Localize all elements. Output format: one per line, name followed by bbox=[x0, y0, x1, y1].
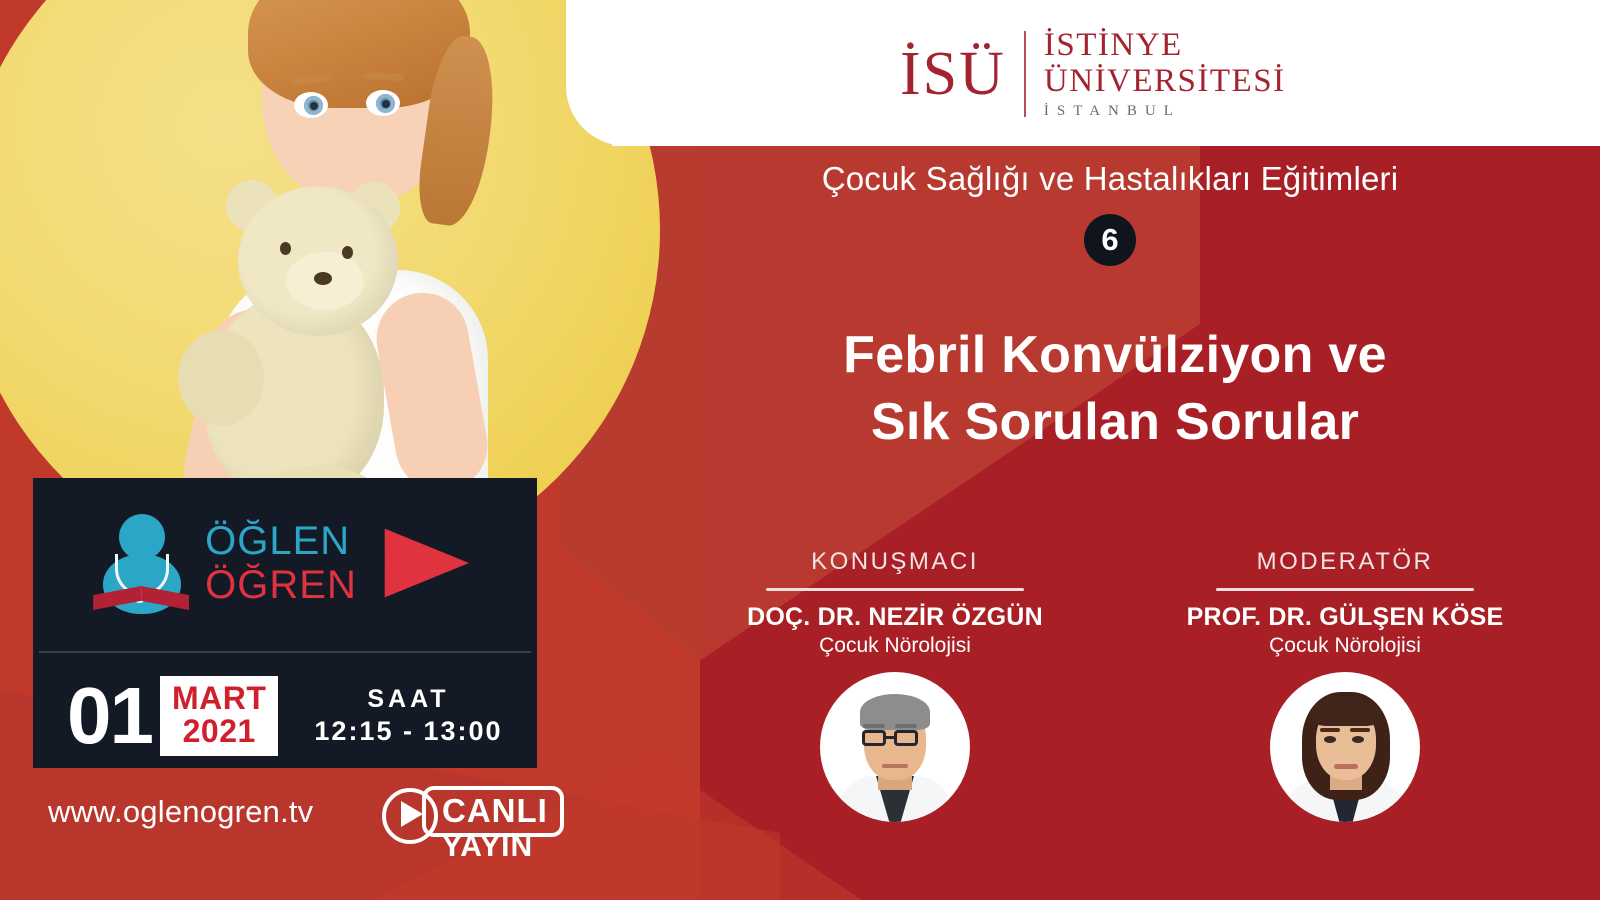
book-icon bbox=[93, 586, 189, 612]
logo-divider bbox=[1024, 31, 1026, 117]
website-url[interactable]: www.oglenogren.tv bbox=[48, 794, 313, 830]
talk-title: Febril Konvülziyon ve Sık Sorulan Sorula… bbox=[700, 322, 1530, 455]
speaker-avatar bbox=[820, 672, 970, 822]
speaker-divider bbox=[766, 588, 1024, 591]
moderator-mouth bbox=[1334, 764, 1358, 769]
people-section: KONUŞMACI DOÇ. DR. NEZİR ÖZGÜN Çocuk Nör… bbox=[700, 548, 1540, 822]
university-monogram: İSÜ bbox=[900, 43, 1006, 105]
talk-title-line2: Sık Sorulan Sorular bbox=[700, 389, 1530, 456]
time-label: SAAT bbox=[314, 684, 502, 715]
moderator-name: PROF. DR. GÜLŞEN KÖSE bbox=[1150, 603, 1540, 632]
event-day: 01 bbox=[67, 678, 152, 753]
moderator-department: Çocuk Nörolojisi bbox=[1150, 634, 1540, 658]
moderator-avatar bbox=[1270, 672, 1420, 822]
panel-divider bbox=[39, 651, 531, 653]
moderator-block: MODERATÖR PROF. DR. GÜLŞEN KÖSE Çocuk Nö… bbox=[1150, 548, 1540, 822]
moderator-eye-left bbox=[1324, 736, 1336, 743]
teddy-eye-right bbox=[342, 246, 353, 259]
speaker-brow-left bbox=[863, 724, 885, 728]
speaker-brow-right bbox=[895, 724, 917, 728]
child-eye-left bbox=[294, 92, 328, 118]
play-triangle-icon bbox=[401, 801, 423, 827]
speaker-block: KONUŞMACI DOÇ. DR. NEZİR ÖZGÜN Çocuk Nör… bbox=[700, 548, 1090, 822]
speaker-name: DOÇ. DR. NEZİR ÖZGÜN bbox=[700, 603, 1090, 632]
event-poster: İSÜ İSTİNYE ÜNİVERSİTESİ İSTANBUL Çocuk … bbox=[0, 0, 1600, 900]
university-city: İSTANBUL bbox=[1044, 103, 1286, 120]
brand-logo: ÖĞLEN ÖĞREN tv bbox=[33, 496, 537, 630]
teddy-nose bbox=[314, 272, 332, 285]
child-eye-right bbox=[366, 90, 400, 116]
tv-play-icon: tv bbox=[379, 520, 477, 606]
university-logo: İSÜ İSTİNYE ÜNİVERSİTESİ İSTANBUL bbox=[900, 28, 1286, 120]
doctor-book-icon bbox=[93, 512, 189, 614]
brand-word-bottom: ÖĞREN bbox=[205, 565, 357, 605]
live-broadcast-badge[interactable]: CANLI YAYIN bbox=[382, 786, 548, 866]
speaker-mouth bbox=[882, 764, 908, 768]
teddy-eye-left bbox=[280, 242, 291, 255]
event-month-box: MART 2021 bbox=[160, 676, 278, 755]
tv-label: tv bbox=[389, 542, 419, 580]
time-value: 12:15 - 13:00 bbox=[314, 715, 502, 749]
speaker-glasses-bridge bbox=[886, 736, 894, 739]
speaker-department: Çocuk Nörolojisi bbox=[700, 634, 1090, 658]
university-wordmark: İSTİNYE ÜNİVERSİTESİ İSTANBUL bbox=[1044, 28, 1286, 120]
moderator-role-label: MODERATÖR bbox=[1150, 548, 1540, 576]
series-title: Çocuk Sağlığı ve Hastalıkları Eğitimleri bbox=[700, 160, 1520, 198]
moderator-brow-left bbox=[1320, 728, 1340, 732]
moderator-brow-right bbox=[1350, 728, 1370, 732]
moderator-divider bbox=[1216, 588, 1474, 591]
event-year: 2021 bbox=[183, 715, 256, 748]
stethoscope-arm-right bbox=[166, 554, 169, 566]
event-time-block: SAAT 12:15 - 13:00 bbox=[314, 684, 502, 749]
moderator-fringe bbox=[1312, 696, 1380, 726]
child-pupil-left bbox=[310, 102, 318, 110]
event-month: MART bbox=[172, 682, 266, 715]
speaker-role-label: KONUŞMACI bbox=[700, 548, 1090, 576]
schedule-row: 01 MART 2021 SAAT 12:15 - 13:00 bbox=[33, 668, 537, 764]
info-panel: ÖĞLEN ÖĞREN tv 01 MART 2021 SAAT 12:15 -… bbox=[33, 478, 537, 768]
moderator-eye-right bbox=[1352, 736, 1364, 743]
child-iris-left bbox=[304, 96, 323, 115]
episode-number-badge: 6 bbox=[1084, 214, 1136, 266]
speaker-glasses-right bbox=[894, 730, 918, 746]
talk-title-line1: Febril Konvülziyon ve bbox=[700, 322, 1530, 389]
brand-wordmark: ÖĞLEN ÖĞREN bbox=[205, 521, 357, 605]
university-name-line2: ÜNİVERSİTESİ bbox=[1044, 64, 1286, 100]
brand-word-top: ÖĞLEN bbox=[205, 521, 357, 561]
child-pupil-right bbox=[382, 100, 390, 108]
university-name-line1: İSTİNYE bbox=[1044, 28, 1286, 64]
stethoscope-arm-left bbox=[115, 554, 118, 566]
child-iris-right bbox=[376, 94, 395, 113]
speaker-glasses-left bbox=[862, 730, 886, 746]
teddy-arm bbox=[178, 330, 264, 426]
live-label-secondary: YAYIN bbox=[442, 830, 533, 864]
